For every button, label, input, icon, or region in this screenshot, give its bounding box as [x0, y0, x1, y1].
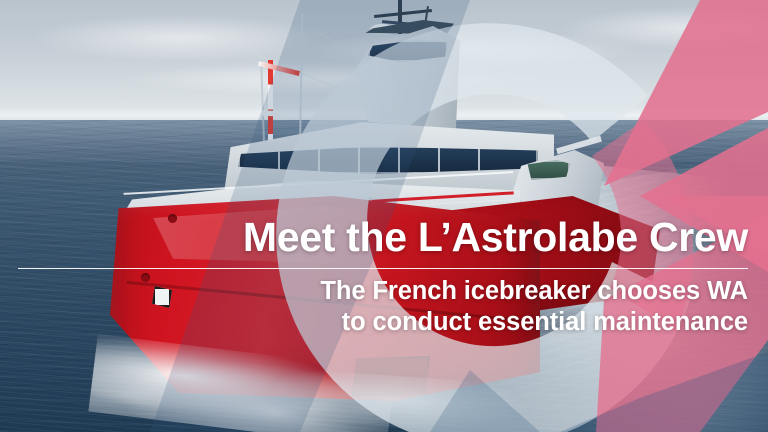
page-title: Meet the L’Astrolabe Crew — [0, 214, 748, 260]
subtitle-line-1: The French icebreaker chooses WA — [0, 276, 748, 307]
title-divider — [18, 268, 748, 269]
hero-banner: Meet the L’Astrolabe Crew The French ice… — [0, 0, 768, 432]
banner-text-block: Meet the L’Astrolabe Crew The French ice… — [0, 214, 768, 338]
subtitle-line-2: to conduct essential maintenance — [0, 307, 748, 338]
